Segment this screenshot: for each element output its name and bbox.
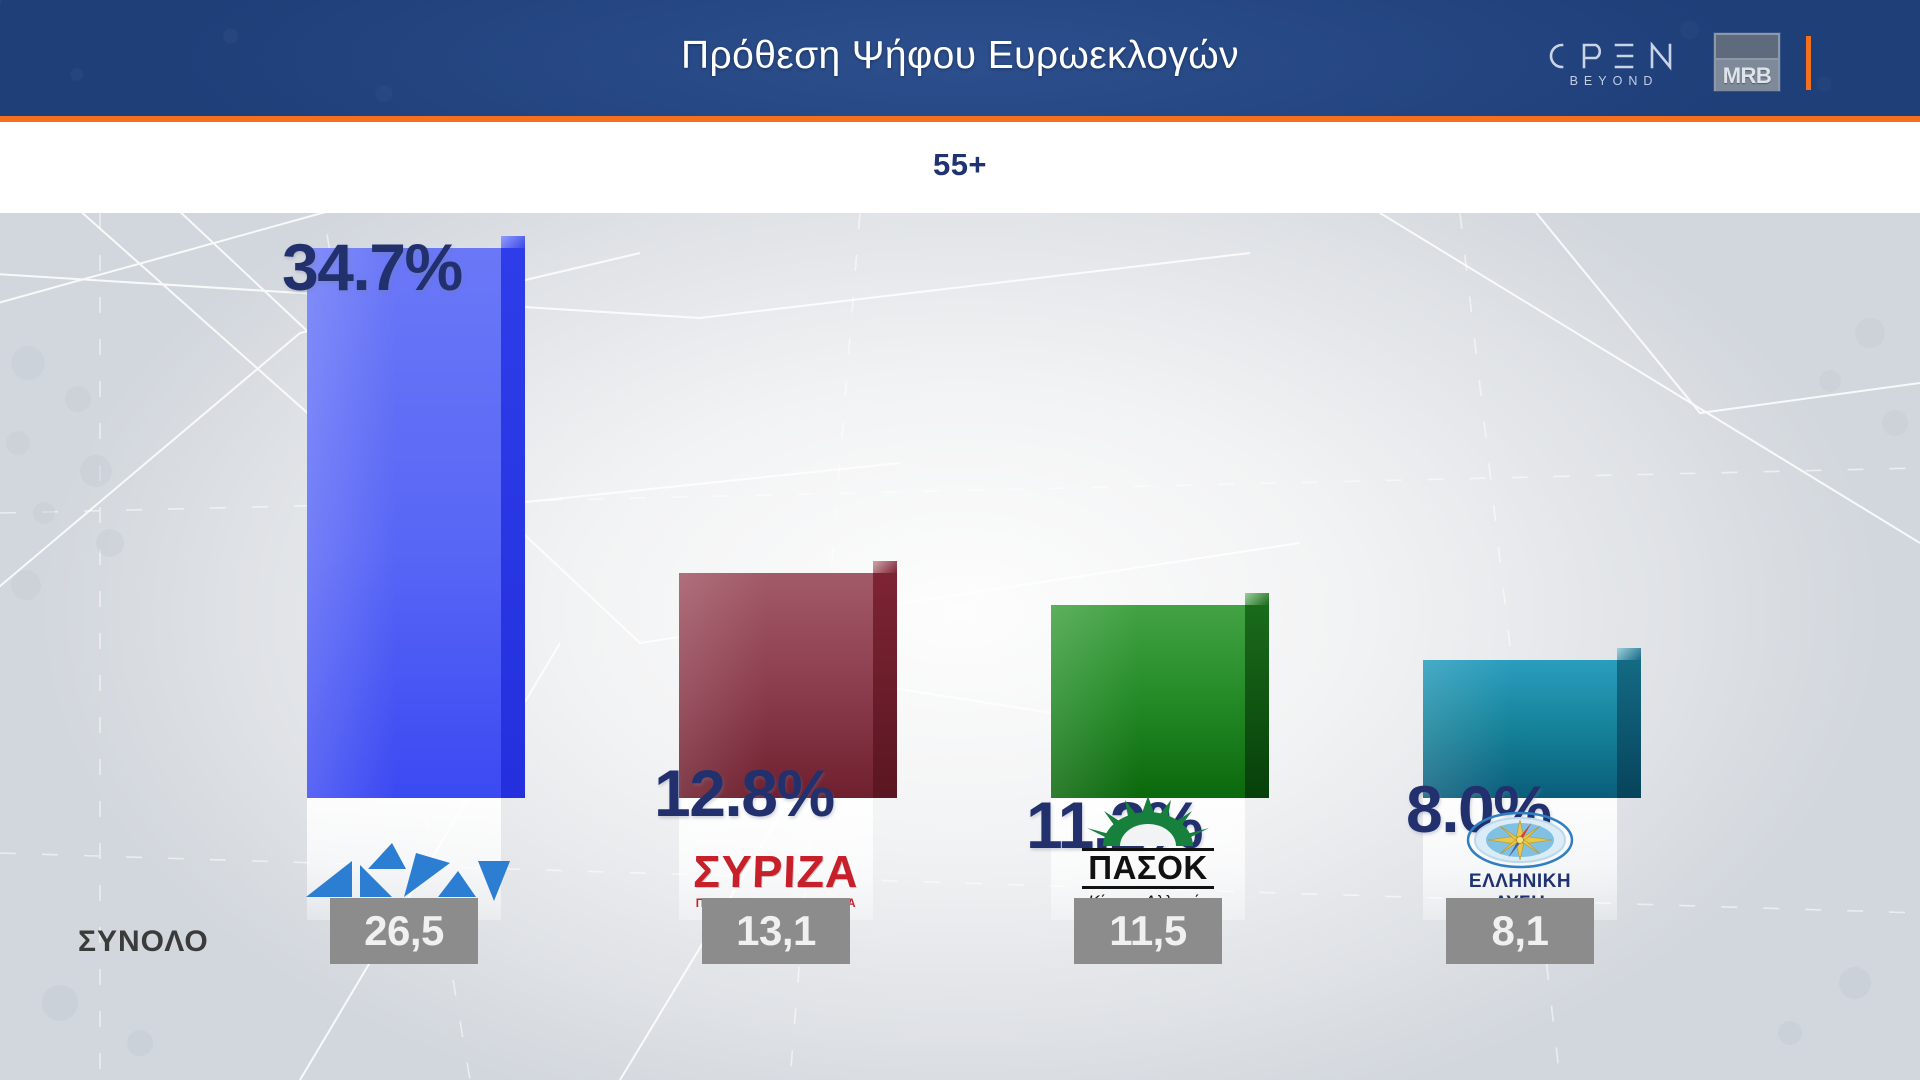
- total-box-elliniki-lysi: 8,1: [1446, 898, 1594, 964]
- bar-pasok-gloss: [1051, 605, 1140, 798]
- bar-syriza-top-bevel: [873, 561, 897, 573]
- background-texture: [0, 213, 1920, 1080]
- demographic-subtitle: 55+: [0, 147, 1920, 183]
- mrb-logo-text: MRB: [1723, 65, 1772, 87]
- bar-elliniki-lysi-top-bevel: [1617, 648, 1641, 660]
- pct-label-nd: 34.7%: [282, 229, 462, 305]
- total-row-label: ΣΥΝΟΛΟ: [78, 925, 209, 959]
- open-beyond-logo: BEYOND: [1536, 36, 1696, 92]
- header-accent-tick: [1806, 36, 1811, 90]
- bar-pasok-side: [1245, 605, 1269, 798]
- elliniki-lysi-logo-line1: ΕΛΛΗΝΙΚΗ: [1423, 871, 1617, 893]
- bar-syriza-side: [873, 573, 897, 798]
- bar-nd-gloss: [307, 248, 396, 798]
- total-box-syriza: 13,1: [702, 898, 850, 964]
- bar-nd-side: [501, 248, 525, 798]
- total-box-pasok: 11,5: [1074, 898, 1222, 964]
- bar-pasok-top-bevel: [1245, 593, 1269, 605]
- subtitle-band: 55+: [0, 122, 1920, 213]
- chart-area: 34.7% 12.8% ΣΥΡΙΖΑ Π: [0, 213, 1920, 1080]
- bar-nd: [307, 248, 501, 798]
- open-beyond-tagline: BEYOND: [1536, 74, 1692, 88]
- mrb-logo: MRB: [1714, 33, 1780, 91]
- total-value-elliniki-lysi: 8,1: [1492, 907, 1549, 955]
- total-value-pasok: 11,5: [1109, 907, 1186, 955]
- bar-nd-top-bevel: [501, 236, 525, 248]
- bar-elliniki-lysi-side: [1617, 660, 1641, 798]
- pct-label-syriza: 12.8%: [654, 755, 834, 831]
- mrb-logo-bottom-block: MRB: [1716, 60, 1778, 91]
- pasok-logo: ΠΑΣΟΚ Κίνημα Αλλαγής: [1050, 796, 1246, 912]
- header-bar: Πρόθεση Ψήφου Ευρωεκλογών BEYOND: [0, 0, 1920, 120]
- pasok-logo-wordmark: ΠΑΣΟΚ: [1082, 848, 1213, 889]
- total-value-syriza: 13,1: [736, 907, 816, 955]
- mrb-logo-top-block: [1716, 35, 1778, 58]
- syriza-logo-wordmark: ΣΥΡΙΖΑ: [661, 849, 891, 894]
- total-value-nd: 26,5: [364, 907, 444, 955]
- nd-logo: [300, 835, 510, 905]
- bar-pasok: [1051, 605, 1245, 798]
- poll-graphic: Πρόθεση Ψήφου Ευρωεκλογών BEYOND: [0, 0, 1920, 1080]
- total-box-nd: 26,5: [330, 898, 478, 964]
